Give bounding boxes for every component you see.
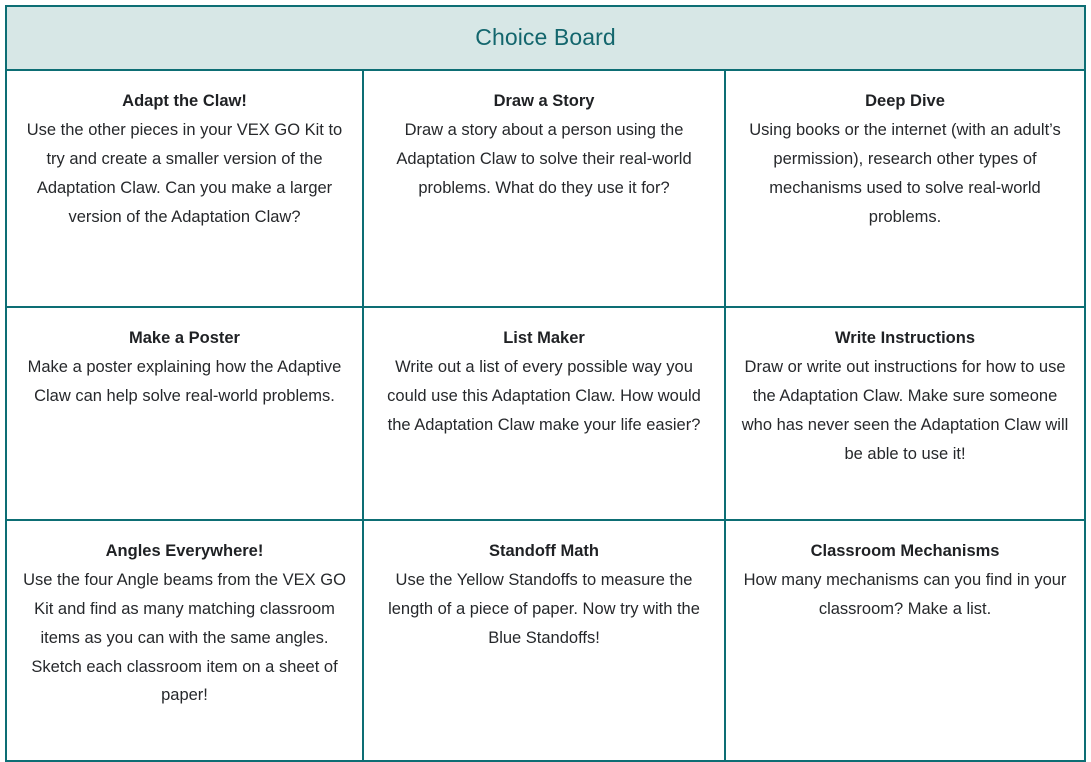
cell-title: Write Instructions — [740, 324, 1070, 353]
cell-body: Using books or the internet (with an adu… — [740, 116, 1070, 232]
table-row: Make a Poster Make a poster explaining h… — [6, 307, 1085, 520]
cell-body: Write out a list of every possible way y… — [378, 353, 710, 440]
cell-title: Make a Poster — [21, 324, 348, 353]
cell-title: Standoff Math — [378, 537, 710, 566]
cell-title: Angles Everywhere! — [21, 537, 348, 566]
choice-cell-deep-dive[interactable]: Deep Dive Using books or the internet (w… — [725, 70, 1085, 307]
cell-body: Use the Yellow Standoffs to measure the … — [378, 566, 710, 653]
choice-cell-list-maker[interactable]: List Maker Write out a list of every pos… — [363, 307, 725, 520]
page-title: Choice Board — [15, 24, 1076, 52]
cell-body: How many mechanisms can you find in your… — [740, 566, 1070, 624]
board-body: Adapt the Claw! Use the other pieces in … — [6, 70, 1085, 761]
cell-title: Adapt the Claw! — [21, 87, 348, 116]
choice-cell-adapt-the-claw[interactable]: Adapt the Claw! Use the other pieces in … — [6, 70, 363, 307]
choice-cell-angles-everywhere[interactable]: Angles Everywhere! Use the four Angle be… — [6, 520, 363, 761]
choice-cell-standoff-math[interactable]: Standoff Math Use the Yellow Standoffs t… — [363, 520, 725, 761]
choice-cell-make-a-poster[interactable]: Make a Poster Make a poster explaining h… — [6, 307, 363, 520]
table-row: Adapt the Claw! Use the other pieces in … — [6, 70, 1085, 307]
cell-body: Make a poster explaining how the Adaptiv… — [21, 353, 348, 411]
cell-body: Use the other pieces in your VEX GO Kit … — [21, 116, 348, 232]
cell-title: Classroom Mechanisms — [740, 537, 1070, 566]
cell-body: Draw or write out instructions for how t… — [740, 353, 1070, 469]
cell-title: Draw a Story — [378, 87, 710, 116]
choice-cell-classroom-mechanisms[interactable]: Classroom Mechanisms How many mechanisms… — [725, 520, 1085, 761]
choice-board-table: Choice Board Adapt the Claw! Use the oth… — [5, 5, 1086, 762]
cell-title: Deep Dive — [740, 87, 1070, 116]
choice-cell-draw-a-story[interactable]: Draw a Story Draw a story about a person… — [363, 70, 725, 307]
choice-cell-write-instructions[interactable]: Write Instructions Draw or write out ins… — [725, 307, 1085, 520]
cell-body: Draw a story about a person using the Ad… — [378, 116, 710, 203]
table-row: Angles Everywhere! Use the four Angle be… — [6, 520, 1085, 761]
cell-title: List Maker — [378, 324, 710, 353]
board-header-row: Choice Board — [6, 6, 1085, 70]
choice-board-container: Choice Board Adapt the Claw! Use the oth… — [5, 5, 1086, 666]
cell-body: Use the four Angle beams from the VEX GO… — [21, 566, 348, 710]
board-header-cell: Choice Board — [6, 6, 1085, 70]
